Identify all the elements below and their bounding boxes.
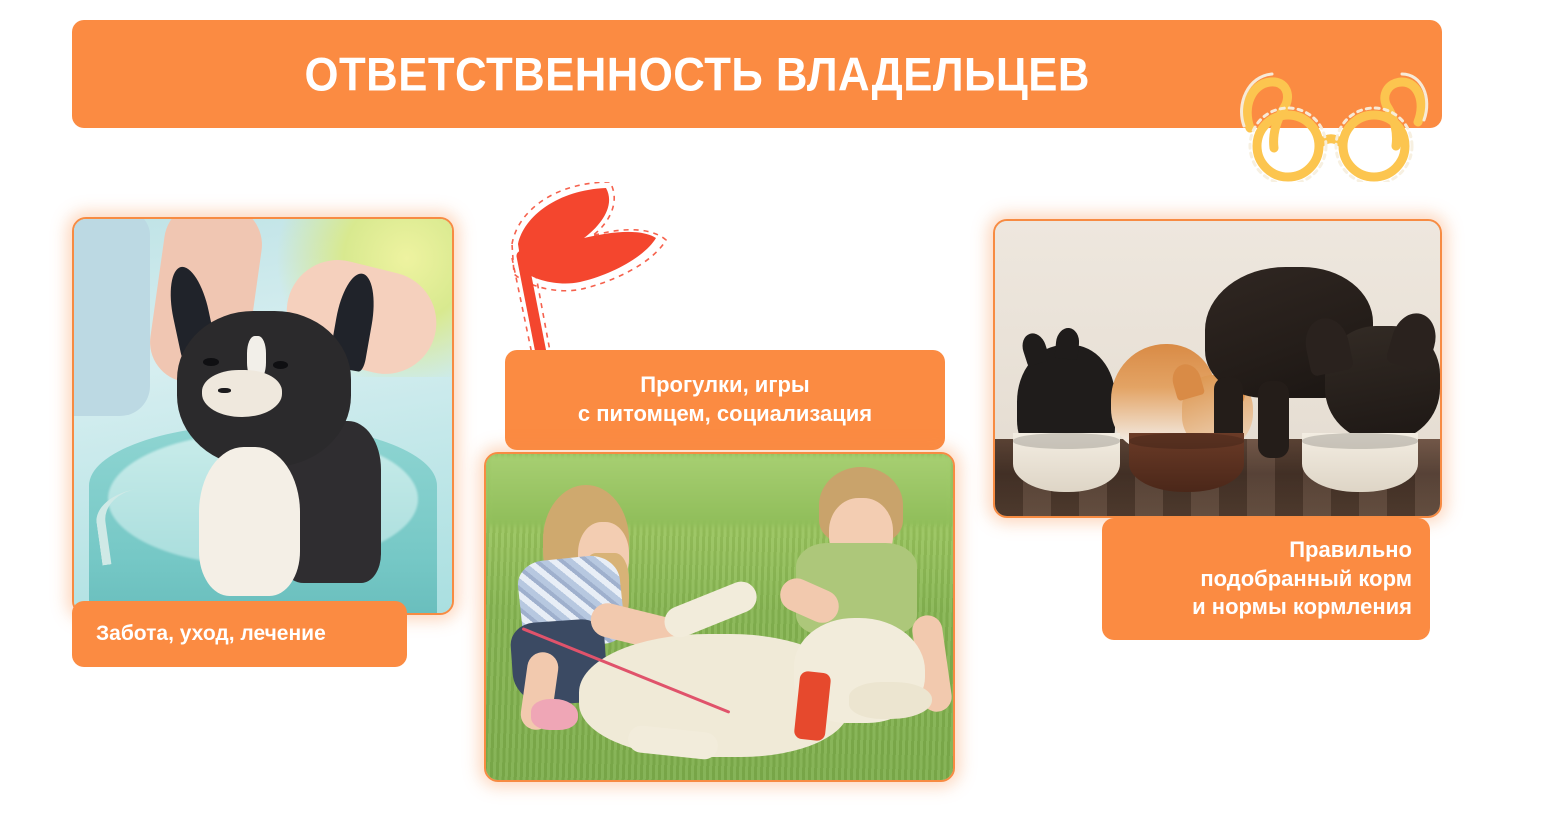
card-caption-feeding-line2: подобранный корм	[1200, 565, 1412, 594]
bowl-right	[1302, 433, 1418, 492]
card-caption-walks-line1: Прогулки, игры	[640, 371, 809, 400]
illustration-pets-eating	[995, 221, 1440, 516]
labrador-figure	[579, 604, 925, 774]
card-image-care	[72, 217, 454, 615]
illustration-dog-bath	[74, 219, 452, 613]
page-title-text: ОТВЕТСТВЕННОСТЬ ВЛАДЕЛЬЦЕВ	[304, 47, 1089, 102]
card-caption-care-line1: Забота, уход, лечение	[96, 620, 326, 647]
page-title: ОТВЕТСТВЕННОСТЬ ВЛАДЕЛЬЦЕВ	[72, 47, 1442, 102]
bowl-left	[1013, 433, 1120, 492]
slide-canvas: ОТВЕТСТВЕННОСТЬ ВЛАДЕЛЬЦЕВ	[0, 0, 1543, 834]
card-caption-feeding: Правильно подобранный корм и нормы кормл…	[1102, 518, 1430, 640]
card-caption-feeding-line1: Правильно	[1289, 536, 1412, 565]
card-image-feeding	[993, 219, 1442, 518]
illustration-kids-dog	[486, 454, 953, 780]
card-caption-care: Забота, уход, лечение	[72, 601, 407, 667]
card-caption-walks-line2: с питомцем, социализация	[578, 400, 872, 429]
title-banner: ОТВЕТСТВЕННОСТЬ ВЛАДЕЛЬЦЕВ	[72, 20, 1442, 128]
card-caption-feeding-line3: и нормы кормления	[1192, 593, 1412, 622]
bowl-center	[1129, 433, 1245, 492]
card-caption-walks: Прогулки, игры с питомцем, социализация	[505, 350, 945, 450]
card-image-walks	[484, 452, 955, 782]
